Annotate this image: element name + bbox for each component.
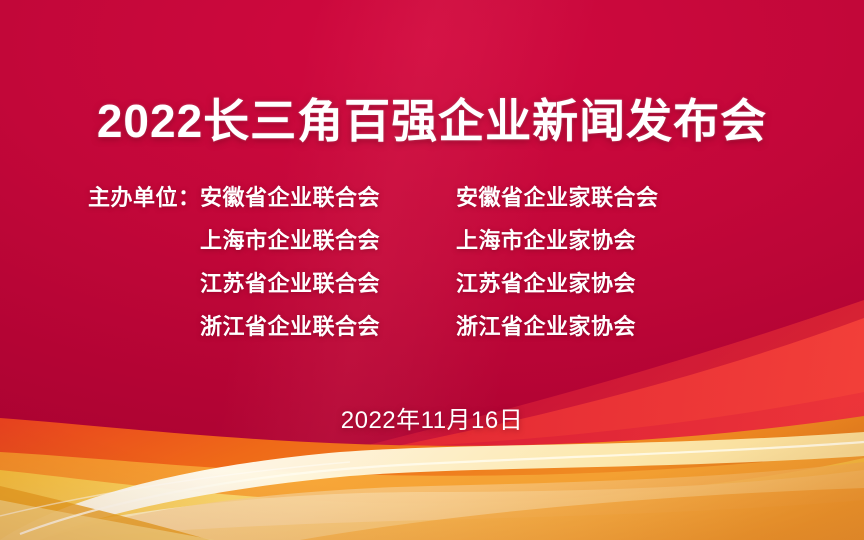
poster-content: 2022长三角百强企业新闻发布会 主办单位： 安徽省企业联合会 安徽省企业家联合… [0,0,864,540]
organizer-left-2: 江苏省企业联合会 [200,266,410,298]
organizer-right-3: 浙江省企业家协会 [456,309,696,341]
organizer-left-0: 安徽省企业联合会 [200,180,410,212]
organizer-row: 浙江省企业联合会 浙江省企业家协会 [0,309,864,352]
organizer-row: 江苏省企业联合会 江苏省企业家协会 [0,266,864,309]
organizer-right-2: 江苏省企业家协会 [456,266,696,298]
organizer-label: 主办单位： [88,180,201,212]
organizer-left-3: 浙江省企业联合会 [200,309,410,341]
poster-canvas: 2022长三角百强企业新闻发布会 主办单位： 安徽省企业联合会 安徽省企业家联合… [0,0,864,540]
organizer-right-1: 上海市企业家协会 [456,223,696,255]
poster-title: 2022长三角百强企业新闻发布会 [0,96,864,147]
event-date: 2022年11月16日 [0,400,864,435]
organizer-left-1: 上海市企业联合会 [200,223,410,255]
organizer-row: 上海市企业联合会 上海市企业家协会 [0,223,864,266]
organizer-row: 主办单位： 安徽省企业联合会 安徽省企业家联合会 [0,180,864,223]
organizer-right-0: 安徽省企业家联合会 [456,180,696,212]
